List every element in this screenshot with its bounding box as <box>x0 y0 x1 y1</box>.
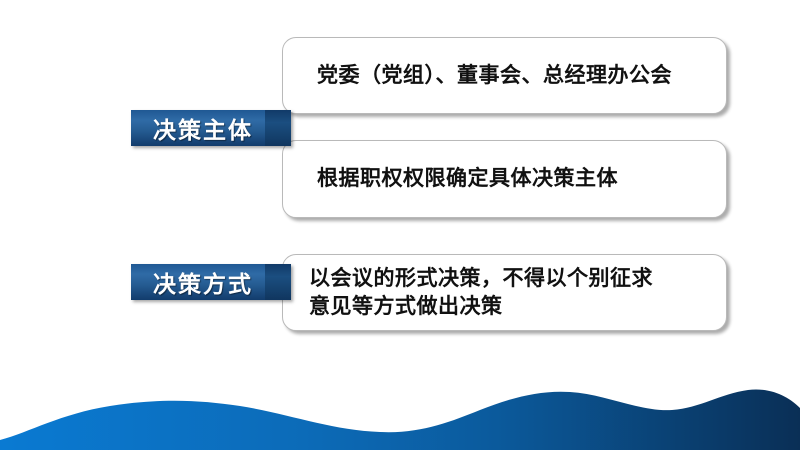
banner-label-text: 决策方式 <box>153 265 269 299</box>
content-box-text: 以会议的形式决策，不得以个别征求 意见等方式做出决策 <box>283 265 667 320</box>
slide-canvas: 党委（党组）、董事会、总经理办公会 根据职权权限确定具体决策主体 以会议的形式决… <box>0 0 800 450</box>
content-box-decision-subject-secondary[interactable]: 根据职权权限确定具体决策主体 <box>282 140 727 218</box>
content-box-text: 党委（党组）、董事会、总经理办公会 <box>283 62 686 89</box>
banner-label-text: 决策主体 <box>153 111 269 145</box>
content-box-decision-subject-primary[interactable]: 党委（党组）、董事会、总经理办公会 <box>282 37 727 114</box>
content-box-text: 根据职权权限确定具体决策主体 <box>283 165 632 192</box>
bottom-wave-decoration <box>0 380 800 450</box>
content-box-decision-method[interactable]: 以会议的形式决策，不得以个别征求 意见等方式做出决策 <box>282 254 727 331</box>
banner-label-decision-method[interactable]: 决策方式 <box>131 264 291 300</box>
banner-label-decision-subject[interactable]: 决策主体 <box>131 110 291 146</box>
